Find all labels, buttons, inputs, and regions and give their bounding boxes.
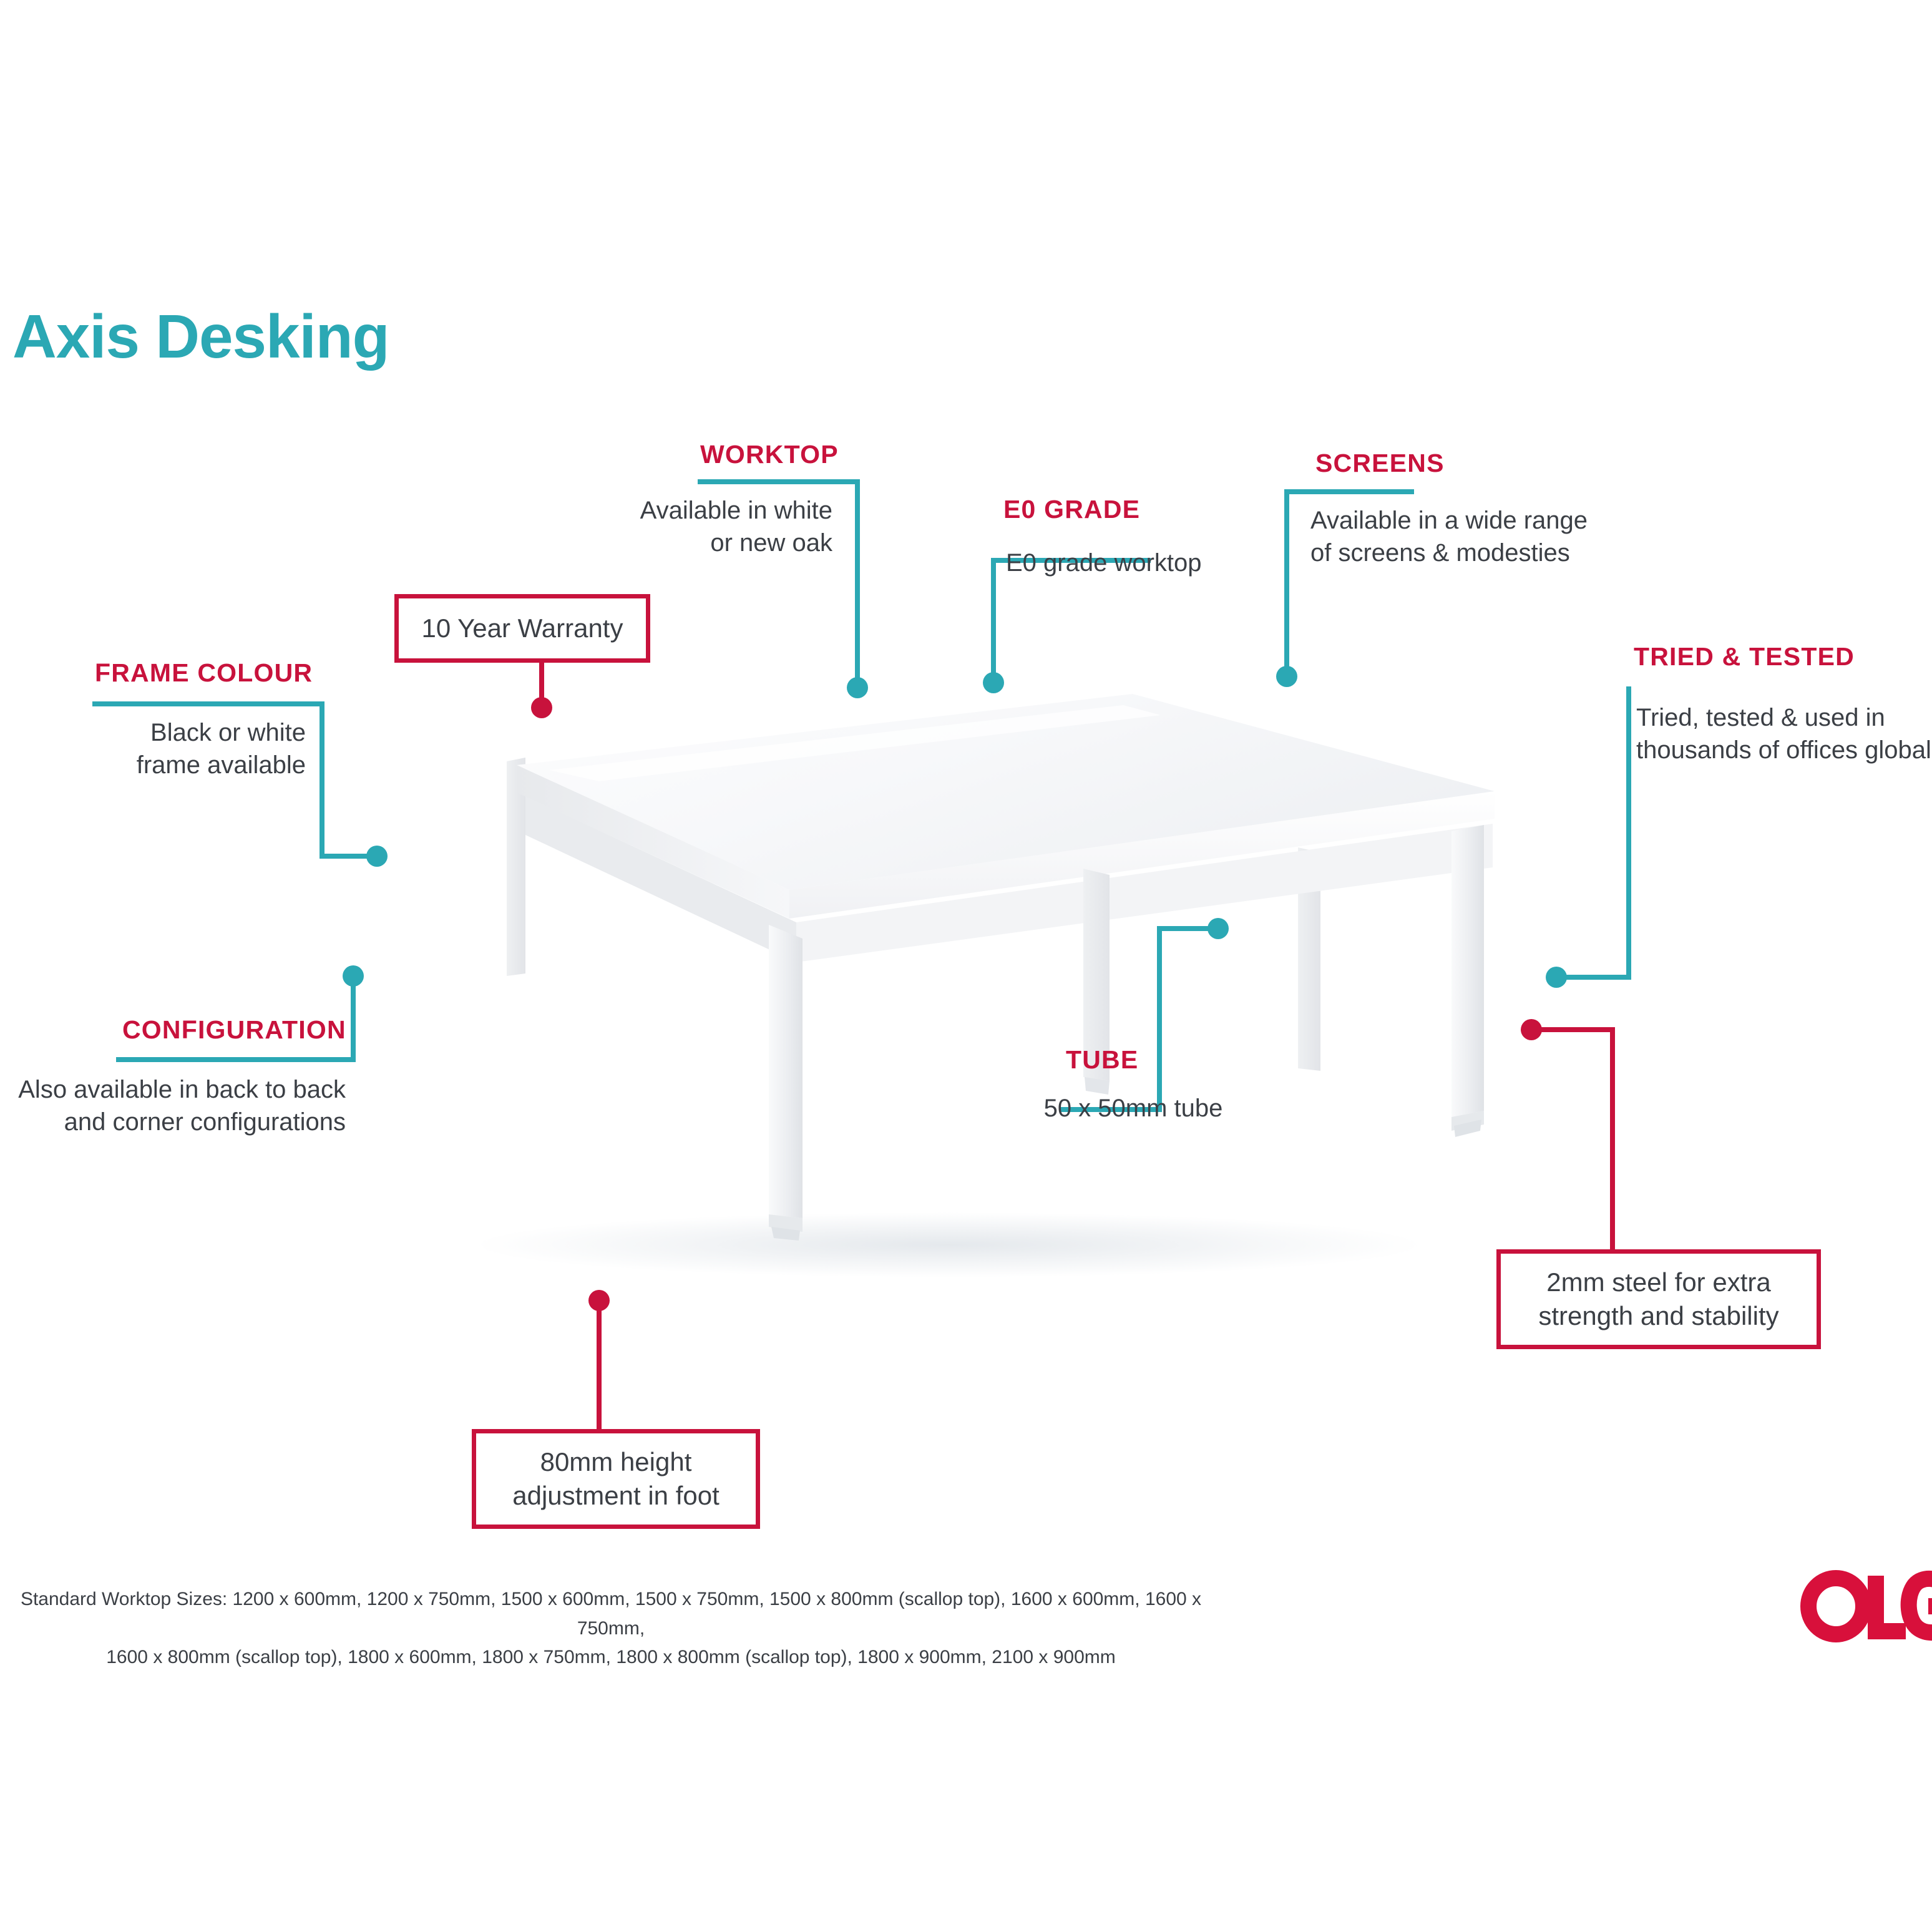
connector-dot-height-adjustment bbox=[588, 1290, 610, 1311]
page-title: Axis Desking bbox=[12, 306, 389, 367]
callout-title-tried-tested: TRIED & TESTED bbox=[1634, 644, 1855, 670]
callout-body-tried-tested: Tried, tested & used in thousands of off… bbox=[1636, 701, 1932, 766]
callout-body-configuration: Also available in back to back and corne… bbox=[12, 1073, 346, 1138]
connector-tried-tested bbox=[1563, 689, 1629, 977]
callout-title-screens: SCREENS bbox=[1315, 451, 1445, 476]
olg-logo bbox=[1800, 1565, 1932, 1647]
desk-floor-shadow bbox=[474, 1212, 1423, 1277]
callout-body-screens: Available in a wide range of screens & m… bbox=[1310, 504, 1685, 569]
callout-body-frame-colour: Black or white frame available bbox=[25, 716, 306, 781]
callout-title-configuration: CONFIGURATION bbox=[122, 1017, 346, 1043]
infographic-canvas: Axis Desking bbox=[0, 0, 1932, 1932]
callout-title-tube: TUBE bbox=[1066, 1047, 1138, 1073]
boxed-callout-warranty: 10 Year Warranty bbox=[394, 594, 650, 663]
product-image-desk bbox=[349, 680, 1535, 1286]
callout-body-e0-grade: E0 grade worktop bbox=[1006, 547, 1355, 579]
boxed-callout-steel-thickness-text: 2mm steel for extra strength and stabili… bbox=[1538, 1266, 1778, 1333]
connector-steel-thickness bbox=[1538, 1030, 1612, 1249]
desk-leg-front-left bbox=[769, 925, 803, 1241]
callout-title-e0-grade: E0 GRADE bbox=[1003, 497, 1140, 522]
callout-title-frame-colour: FRAME COLOUR bbox=[95, 660, 313, 686]
boxed-callout-steel-thickness: 2mm steel for extra strength and stabili… bbox=[1496, 1249, 1821, 1349]
boxed-callout-warranty-text: 10 Year Warranty bbox=[422, 612, 623, 645]
callout-body-worktop: Available in white or new oak bbox=[545, 494, 832, 559]
boxed-callout-height-adjustment: 80mm height adjustment in foot bbox=[472, 1429, 760, 1529]
callout-title-worktop: WORKTOP bbox=[700, 442, 839, 467]
callout-body-tube: 50 x 50mm tube bbox=[971, 1092, 1295, 1125]
footer-worktop-sizes: Standard Worktop Sizes: 1200 x 600mm, 12… bbox=[9, 1585, 1213, 1672]
connector-dot-tried-tested bbox=[1546, 967, 1567, 988]
desk-leg-front-right bbox=[1451, 825, 1484, 1137]
boxed-callout-height-adjustment-text: 80mm height adjustment in foot bbox=[512, 1445, 720, 1513]
